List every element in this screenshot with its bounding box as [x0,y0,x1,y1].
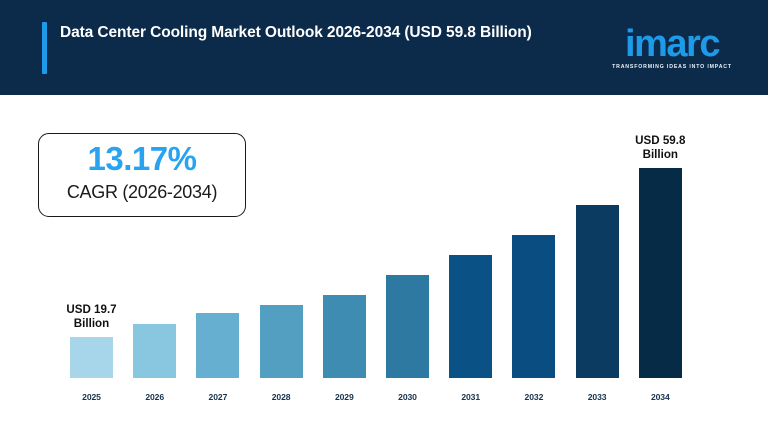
x-axis-label-2031: 2031 [449,392,492,402]
value-callout-2034: USD 59.8Billion [608,134,712,162]
bar-group-2025: 2025 [70,95,113,432]
bar-group-2026: 2026 [133,95,176,432]
x-axis-label-2030: 2030 [386,392,429,402]
bar-2026 [133,324,176,378]
infographic-page: Data Center Cooling Market Outlook 2026-… [0,0,768,432]
x-axis-label-2027: 2027 [196,392,239,402]
bar-group-2029: 2029 [323,95,366,432]
x-axis-label-2029: 2029 [323,392,366,402]
bar-2027 [196,313,239,378]
x-axis-label-2033: 2033 [576,392,619,402]
imarc-logo: imarc TRANSFORMING IDEAS INTO IMPACT [602,22,742,76]
logo-wordmark: imarc [602,24,742,64]
bar-group-2032: 2032 [512,95,555,432]
bar-2034 [639,168,682,378]
bar-chart: 2025202620272028202920302031203220332034… [0,95,768,432]
bar-group-2031: 2031 [449,95,492,432]
bar-2029 [323,295,366,378]
x-axis-label-2025: 2025 [70,392,113,402]
x-axis-label-2034: 2034 [639,392,682,402]
logo-tagline: TRANSFORMING IDEAS INTO IMPACT [602,64,742,70]
bar-2033 [576,205,619,378]
bar-2031 [449,255,492,378]
header-accent-bar [42,22,47,74]
bar-2030 [386,275,429,378]
bar-group-2027: 2027 [196,95,239,432]
bar-group-2028: 2028 [260,95,303,432]
x-axis-label-2026: 2026 [133,392,176,402]
bar-2028 [260,305,303,378]
bar-2025 [70,337,113,378]
value-callout-2025: USD 19.7Billion [40,303,144,331]
x-axis-label-2028: 2028 [260,392,303,402]
x-axis-label-2032: 2032 [512,392,555,402]
bar-group-2030: 2030 [386,95,429,432]
header-bar: Data Center Cooling Market Outlook 2026-… [0,0,768,95]
bar-2032 [512,235,555,378]
page-title: Data Center Cooling Market Outlook 2026-… [60,20,580,46]
